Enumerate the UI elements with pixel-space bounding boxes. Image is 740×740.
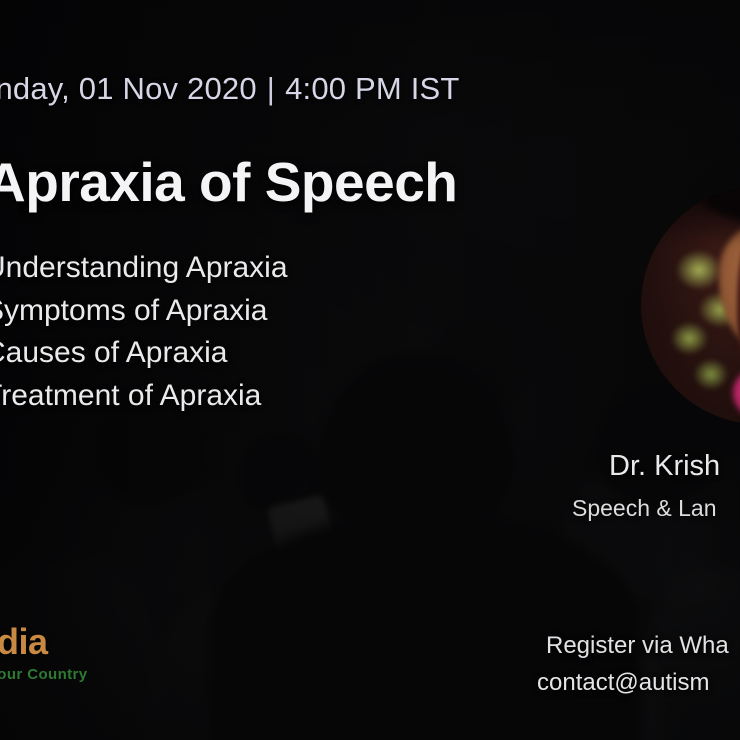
- event-date: unday, 01 Nov 2020: [0, 71, 257, 106]
- list-item: Causes of Apraxia: [0, 332, 288, 375]
- logo-wordmark: India: [0, 621, 88, 663]
- portrait-shadow: [641, 186, 740, 244]
- event-datetime: unday, 01 Nov 2020|4:00 PM IST: [0, 71, 460, 107]
- webinar-banner: unday, 01 Nov 2020|4:00 PM IST Apraxia o…: [0, 0, 740, 740]
- list-item: Symptoms of Apraxia: [0, 290, 288, 333]
- datetime-separator: |: [257, 71, 285, 106]
- page-title: Apraxia of Speech: [0, 150, 457, 214]
- avatar: [641, 186, 740, 424]
- list-item: Treatment of Apraxia: [0, 375, 288, 418]
- contact-email[interactable]: contact@autism: [537, 669, 709, 697]
- event-time: 4:00 PM IST: [285, 71, 460, 106]
- registration-line: Register via Wha: [546, 632, 729, 660]
- topic-list: Understanding Apraxia Symptoms of Apraxi…: [0, 247, 288, 417]
- speaker-name: Dr. Krish: [609, 450, 720, 483]
- brand-logo: India Your Country: [0, 621, 88, 683]
- banner-content: unday, 01 Nov 2020|4:00 PM IST Apraxia o…: [0, 0, 740, 740]
- speaker-role: Speech & Lan: [572, 495, 717, 522]
- list-item: Understanding Apraxia: [0, 247, 288, 290]
- logo-tagline: Your Country: [0, 666, 88, 683]
